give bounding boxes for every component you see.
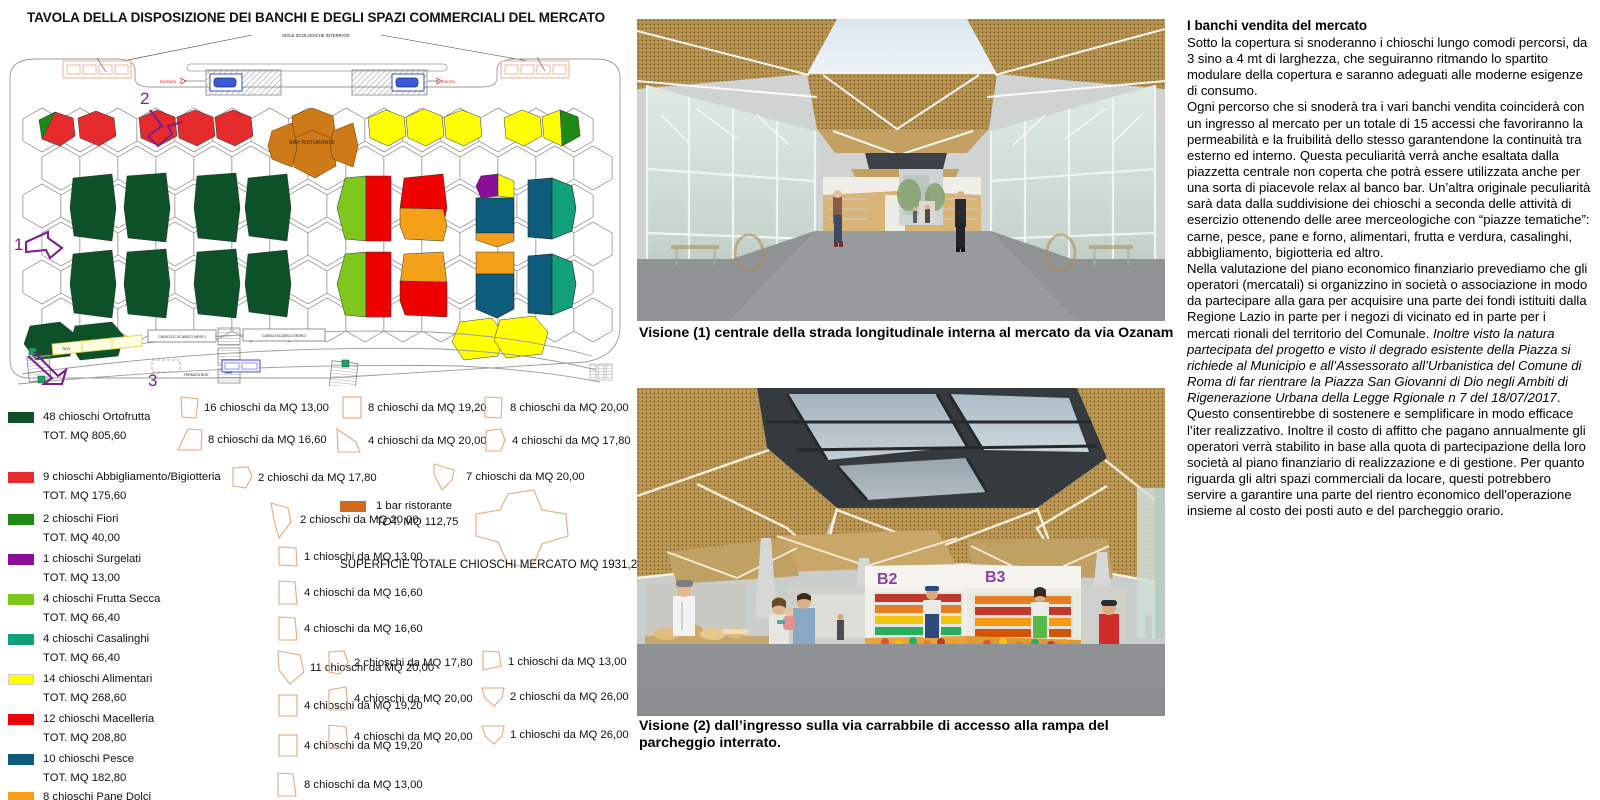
label-isole-ecologiche: ISOLE ECOLOGICHE INTERRATE bbox=[282, 33, 350, 38]
superficie-totale: SUPERFICIE TOTALE CHIOSCHI MERCATO MQ 19… bbox=[340, 558, 644, 571]
legend-total: TOT. MQ 175,60 bbox=[43, 490, 126, 502]
legend-total: TOT. MQ 182,80 bbox=[43, 772, 126, 784]
kiosk-shape-icon bbox=[274, 648, 308, 688]
label-taxi: TAXI bbox=[62, 347, 70, 351]
color-swatch bbox=[8, 714, 34, 725]
page-title: TAVOLA DELLA DISPOSIZIONE DEI BANCHI E D… bbox=[0, 10, 632, 25]
figure-distant-1 bbox=[925, 205, 930, 223]
color-swatch bbox=[8, 472, 34, 483]
render-image-2: ne e dolci bbox=[637, 388, 1165, 716]
legend-item: 14 chioschi Alimentari bbox=[8, 670, 152, 688]
plan-column: TAVOLA DELLA DISPOSIZIONE DEI BANCHI E D… bbox=[0, 0, 632, 800]
kiosk-shape-icon bbox=[276, 544, 302, 570]
market-plan-board: TAVOLA DELLA DISPOSIZIONE DEI BANCHI E D… bbox=[0, 0, 1600, 800]
legend-total: TOT. MQ 40,00 bbox=[43, 532, 120, 544]
article-p3-tail: . Questo consentirebbe di sostenere e se… bbox=[1187, 390, 1586, 518]
legend-total: TOT. MQ 805,60 bbox=[43, 430, 126, 442]
kiosk-shape-icon bbox=[268, 500, 298, 540]
kiosk-shape-icon bbox=[176, 426, 206, 454]
label-carico-2: CARICO SCARICO MERCI bbox=[262, 334, 306, 338]
article-paragraph-1: Sotto la copertura si snoderanno i chios… bbox=[1187, 35, 1591, 100]
figure-distant-3 bbox=[837, 614, 844, 640]
kiosk-shape-icon bbox=[480, 684, 508, 710]
kiosk-shape-icon bbox=[276, 578, 302, 608]
color-swatch bbox=[8, 792, 34, 800]
kiosk-shape-icon bbox=[334, 426, 366, 456]
color-swatch bbox=[340, 501, 366, 512]
color-swatch bbox=[8, 634, 34, 645]
figure-man bbox=[955, 191, 966, 252]
kiosk-shape-icon bbox=[340, 394, 366, 422]
kiosk-shape-icon bbox=[326, 684, 352, 714]
legend-total: TOT. MQ 66,40 bbox=[43, 652, 120, 664]
render-2-caption: Visione (2) dall’ingresso sulla via carr… bbox=[639, 718, 1184, 753]
kiosk-shape-icon bbox=[178, 394, 202, 422]
article-heading: I banchi vendita del mercato bbox=[1187, 18, 1591, 35]
article-paragraph-2: Ogni percorso che si snoderà tra i vari … bbox=[1187, 99, 1591, 261]
kiosk-shape-icon bbox=[326, 722, 352, 752]
legend: 48 chioschi Ortofrutta TOT. MQ 805,60 9 … bbox=[0, 392, 632, 800]
color-swatch bbox=[8, 554, 34, 565]
isole-ecologiche-right bbox=[501, 57, 569, 78]
kiosk-shape-icon bbox=[480, 722, 508, 748]
kiosk-shape-icon bbox=[276, 732, 302, 760]
legend-total: TOT. MQ 268,60 bbox=[43, 692, 126, 704]
stall-label-b2: B2 bbox=[877, 571, 898, 588]
legend-total: TOT. MQ 66,40 bbox=[43, 612, 120, 624]
ramp-uscita: USCITA bbox=[352, 70, 456, 95]
kiosk-shape-icon bbox=[482, 426, 510, 456]
figure-woman bbox=[833, 190, 843, 247]
legend-item: 2 chioschi Fiori bbox=[8, 510, 118, 528]
label-uscita: USCITA bbox=[442, 80, 456, 84]
color-swatch bbox=[8, 674, 34, 685]
article-text: I banchi vendita del mercato Sotto la co… bbox=[1187, 18, 1591, 778]
color-swatch bbox=[8, 412, 34, 423]
article-paragraph-3: Nella valutazione del piano economico fi… bbox=[1187, 261, 1591, 520]
kiosk-shape-icon bbox=[326, 648, 352, 678]
kiosk-shape-icon bbox=[274, 770, 302, 800]
kiosk-shape-icon bbox=[480, 648, 506, 676]
kiosk-shape-icon bbox=[276, 692, 302, 720]
render-1-caption: Visione (1) centrale della strada longit… bbox=[639, 325, 1184, 342]
marker-3-label: 3 bbox=[148, 371, 157, 386]
color-swatch bbox=[8, 594, 34, 605]
stall-label-b3: B3 bbox=[985, 569, 1006, 586]
legend-total: TOT. MQ 112,75 bbox=[376, 516, 458, 528]
render-image-1 bbox=[637, 19, 1165, 321]
label-carico-1: CARICO E SCARICO MERCI bbox=[158, 335, 205, 339]
kiosk-shape-icon bbox=[230, 464, 256, 492]
legend-item: 10 chioschi Pesce bbox=[8, 750, 134, 768]
legend-item: 1 chioschi Surgelati bbox=[8, 550, 141, 568]
legend-item: 9 chioschi Abbigliamento/Bigiotteria bbox=[8, 468, 221, 486]
legend-item: 4 chioschi Frutta Secca bbox=[8, 590, 160, 608]
kiosk-shape-icon bbox=[482, 394, 508, 422]
kiosk-shape-icon bbox=[430, 460, 464, 494]
legend-item: 48 chioschi Ortofrutta bbox=[8, 408, 150, 426]
label-entrata: ENTRATA bbox=[160, 80, 177, 84]
marker-2-label: 2 bbox=[140, 89, 149, 108]
legend-total: TOT. MQ 13,00 bbox=[43, 572, 120, 584]
figure-distant-2 bbox=[913, 207, 917, 223]
marker-1-label: 1 bbox=[14, 235, 23, 254]
legend-item: 4 chioschi Casalinghi bbox=[8, 630, 149, 648]
legend-item: 8 chioschi Pane Dolci bbox=[8, 788, 151, 800]
legend-total: TOT. MQ 208,80 bbox=[43, 732, 126, 744]
legend-bar-ristorante: 1 bar ristorante TOT. MQ 112,75 bbox=[340, 500, 458, 528]
label-bar-ristorante: BAR RISTORANTE bbox=[289, 140, 335, 146]
label-fermata-bus: FERMATA BUS bbox=[184, 373, 209, 377]
legend-item: 12 chioschi Macelleria bbox=[8, 710, 154, 728]
site-plan-drawing: ISOLE ECOLOGICHE INTERRATE bbox=[0, 26, 632, 386]
color-swatch bbox=[8, 514, 34, 525]
color-swatch bbox=[8, 754, 34, 765]
isole-ecologiche-left bbox=[63, 58, 131, 78]
ramp-entrata: ENTRATA bbox=[160, 70, 281, 95]
kiosk-shape-icon bbox=[276, 614, 302, 644]
